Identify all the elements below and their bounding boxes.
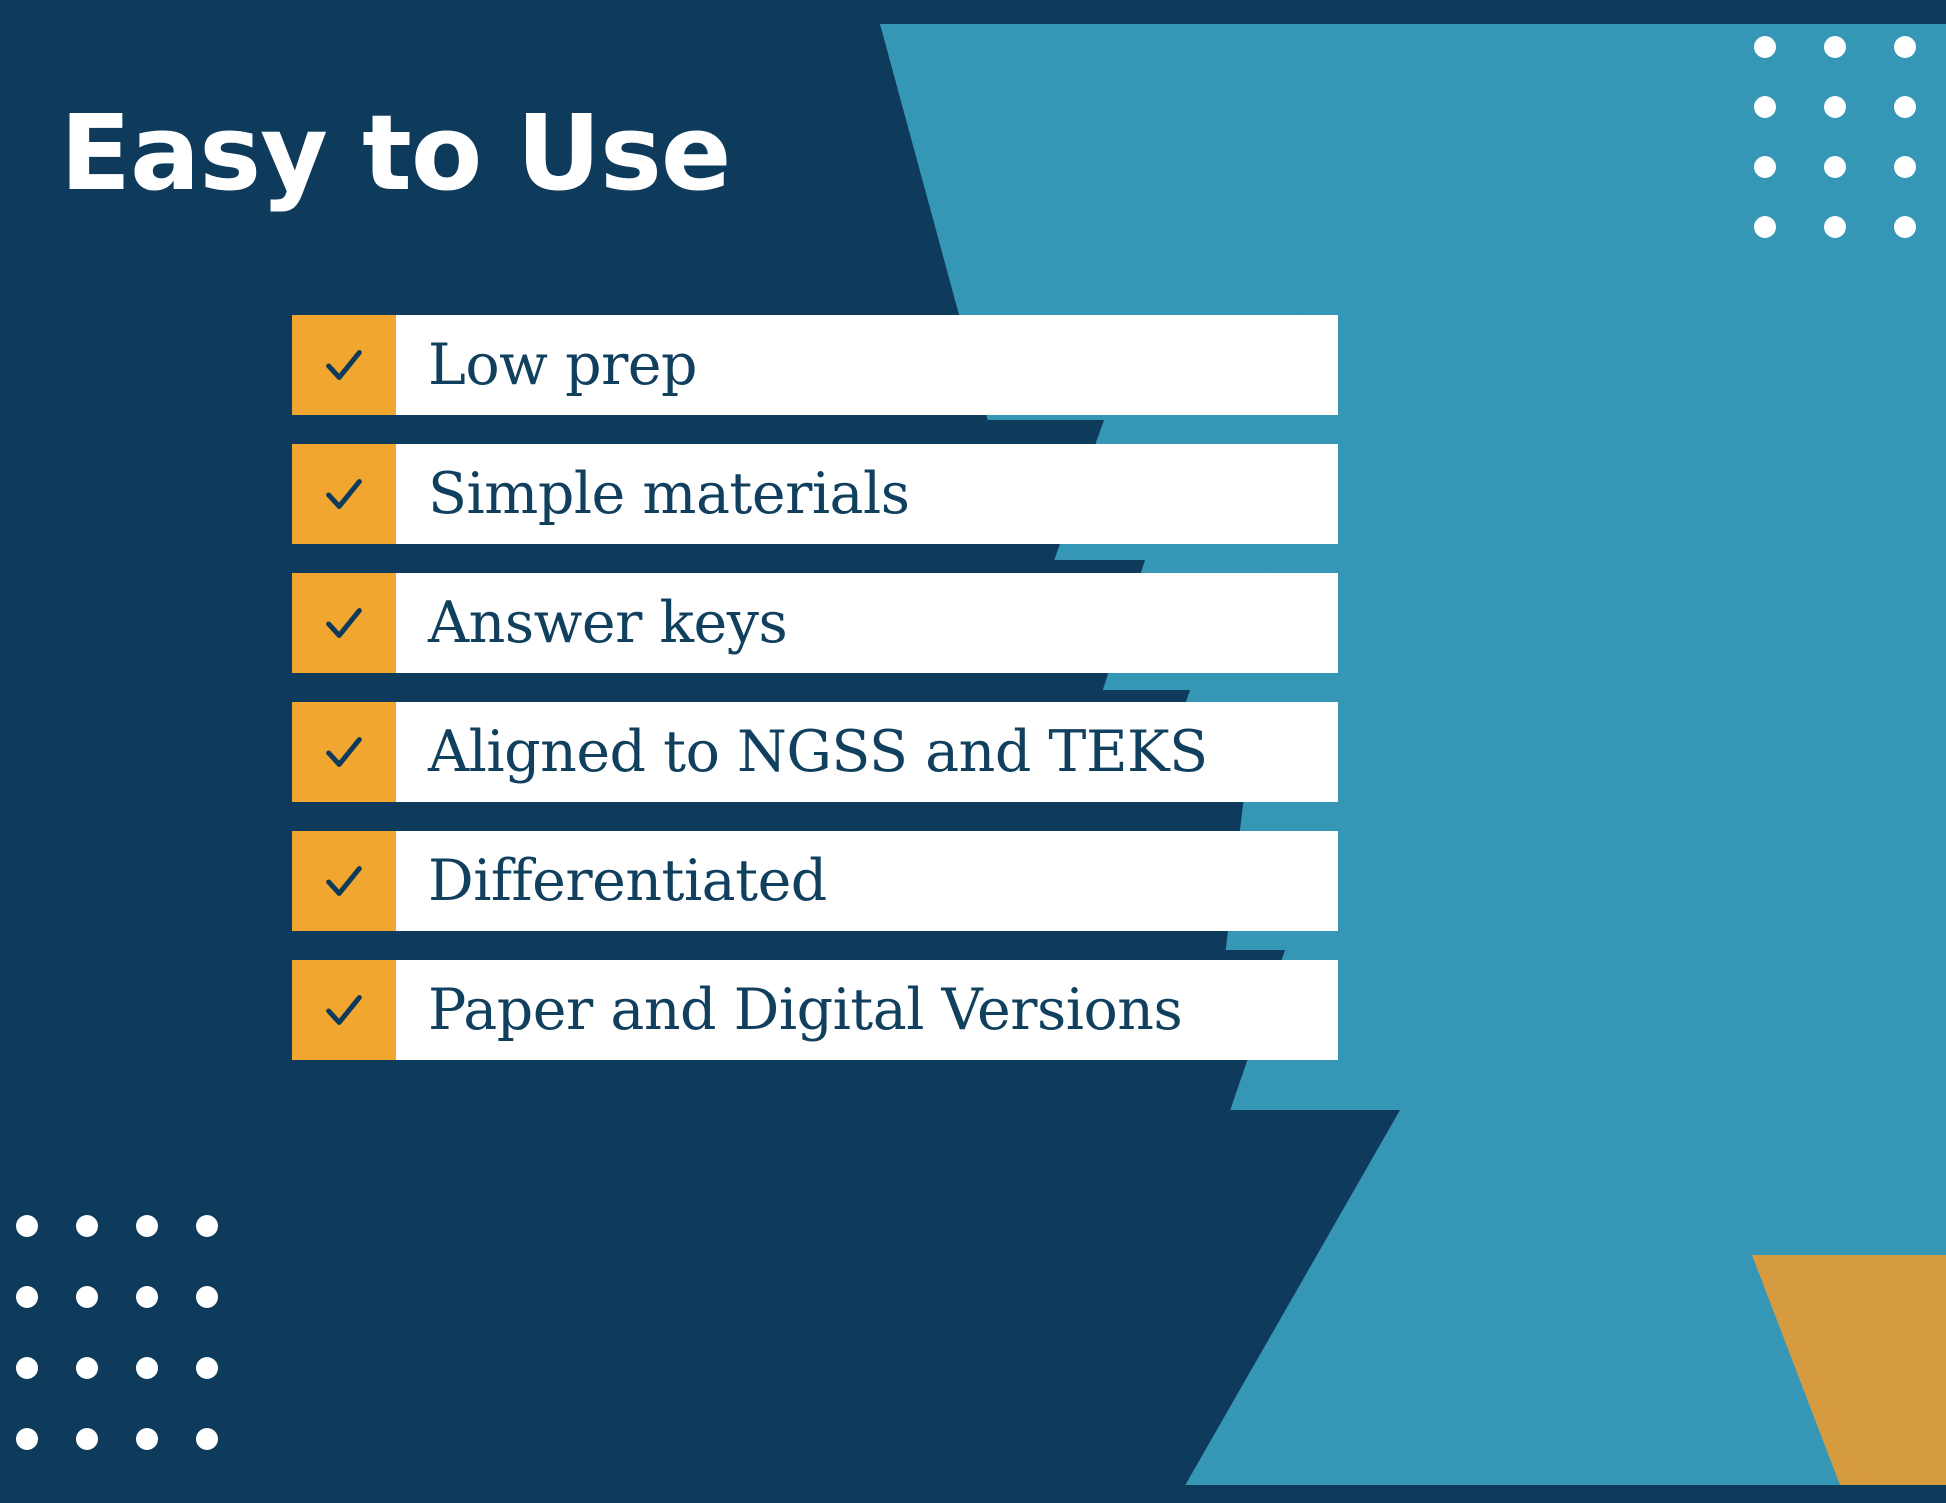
checkmark-badge (292, 831, 396, 931)
checklist: Low prep Simple materials Answer keys (292, 315, 1338, 1060)
check-icon (321, 987, 367, 1033)
dot (16, 1357, 38, 1379)
dot (1894, 36, 1916, 58)
orange-triangle-fill (1752, 1255, 1946, 1485)
dot (136, 1215, 158, 1237)
dot-grid-bottom-left (16, 1215, 256, 1499)
checkmark-badge (292, 702, 396, 802)
dot (136, 1428, 158, 1450)
dot (1824, 96, 1846, 118)
checklist-item-label: Simple materials (396, 444, 1338, 544)
dot-grid-top-right (1754, 36, 1946, 276)
checklist-item[interactable]: Answer keys (292, 573, 1338, 673)
dot (136, 1286, 158, 1308)
orange-triangle-shape (1752, 1255, 1946, 1485)
bottom-navy-bar (0, 1485, 1946, 1503)
dot (1894, 96, 1916, 118)
dot (1894, 156, 1916, 178)
checkmark-badge (292, 315, 396, 415)
checklist-item-label: Low prep (396, 315, 1338, 415)
check-icon (321, 729, 367, 775)
dot (76, 1428, 98, 1450)
dot (16, 1286, 38, 1308)
checklist-item-label: Answer keys (396, 573, 1338, 673)
dot (136, 1357, 158, 1379)
checklist-item[interactable]: Differentiated (292, 831, 1338, 931)
checklist-item-label: Paper and Digital Versions (396, 960, 1338, 1060)
checkmark-badge (292, 960, 396, 1060)
dot (1754, 156, 1776, 178)
check-icon (321, 600, 367, 646)
checklist-item-label: Aligned to NGSS and TEKS (396, 702, 1338, 802)
top-navy-bar (0, 0, 1946, 24)
dot (1754, 36, 1776, 58)
check-icon (321, 858, 367, 904)
check-icon (321, 342, 367, 388)
checklist-item[interactable]: Low prep (292, 315, 1338, 415)
dot (1754, 96, 1776, 118)
dot (196, 1428, 218, 1450)
dot (16, 1215, 38, 1237)
dot (1894, 216, 1916, 238)
dot (1824, 216, 1846, 238)
dot (196, 1357, 218, 1379)
checklist-item-label: Differentiated (396, 831, 1338, 931)
dot (16, 1428, 38, 1450)
dot (1754, 216, 1776, 238)
dot (1824, 156, 1846, 178)
check-icon (321, 471, 367, 517)
checklist-item[interactable]: Aligned to NGSS and TEKS (292, 702, 1338, 802)
checklist-item[interactable]: Simple materials (292, 444, 1338, 544)
dot (76, 1215, 98, 1237)
checklist-item[interactable]: Paper and Digital Versions (292, 960, 1338, 1060)
dot (196, 1215, 218, 1237)
checkmark-badge (292, 444, 396, 544)
page-title: Easy to Use (60, 96, 730, 210)
dot (196, 1286, 218, 1308)
dot (76, 1357, 98, 1379)
dot (76, 1286, 98, 1308)
checkmark-badge (292, 573, 396, 673)
dot (1824, 36, 1846, 58)
slide-canvas: Easy to Use Low prep Simple materials (0, 0, 1946, 1503)
